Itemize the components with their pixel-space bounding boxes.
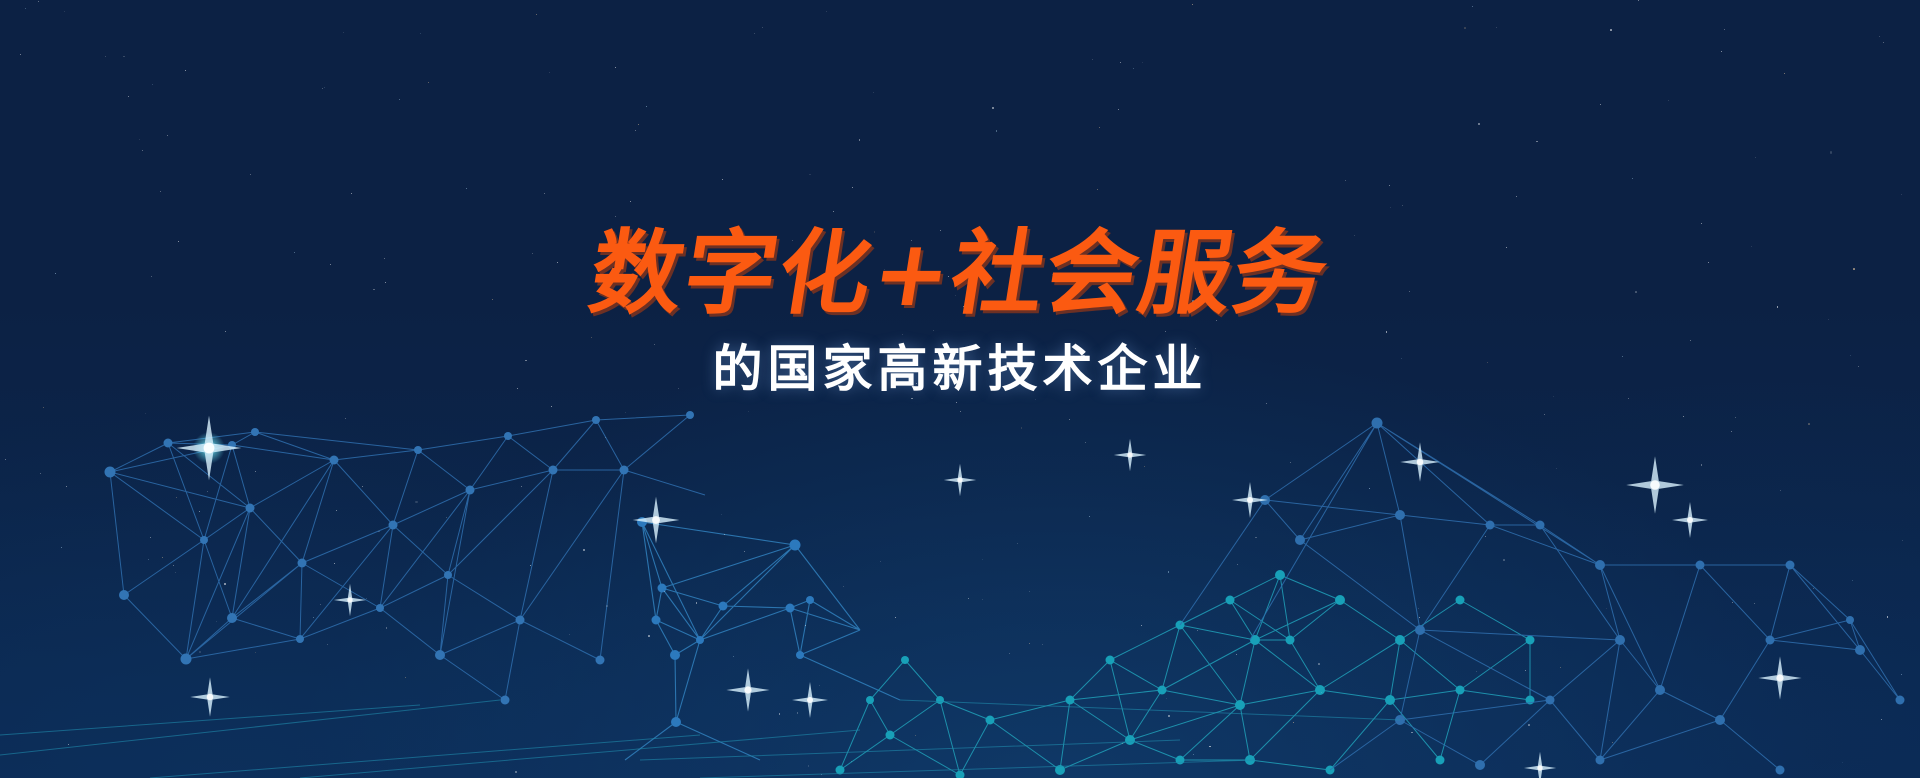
hero-banner: 数字化+社会服务 的国家高新技术企业: [0, 0, 1920, 778]
network-mesh-graphic: [0, 0, 1920, 778]
